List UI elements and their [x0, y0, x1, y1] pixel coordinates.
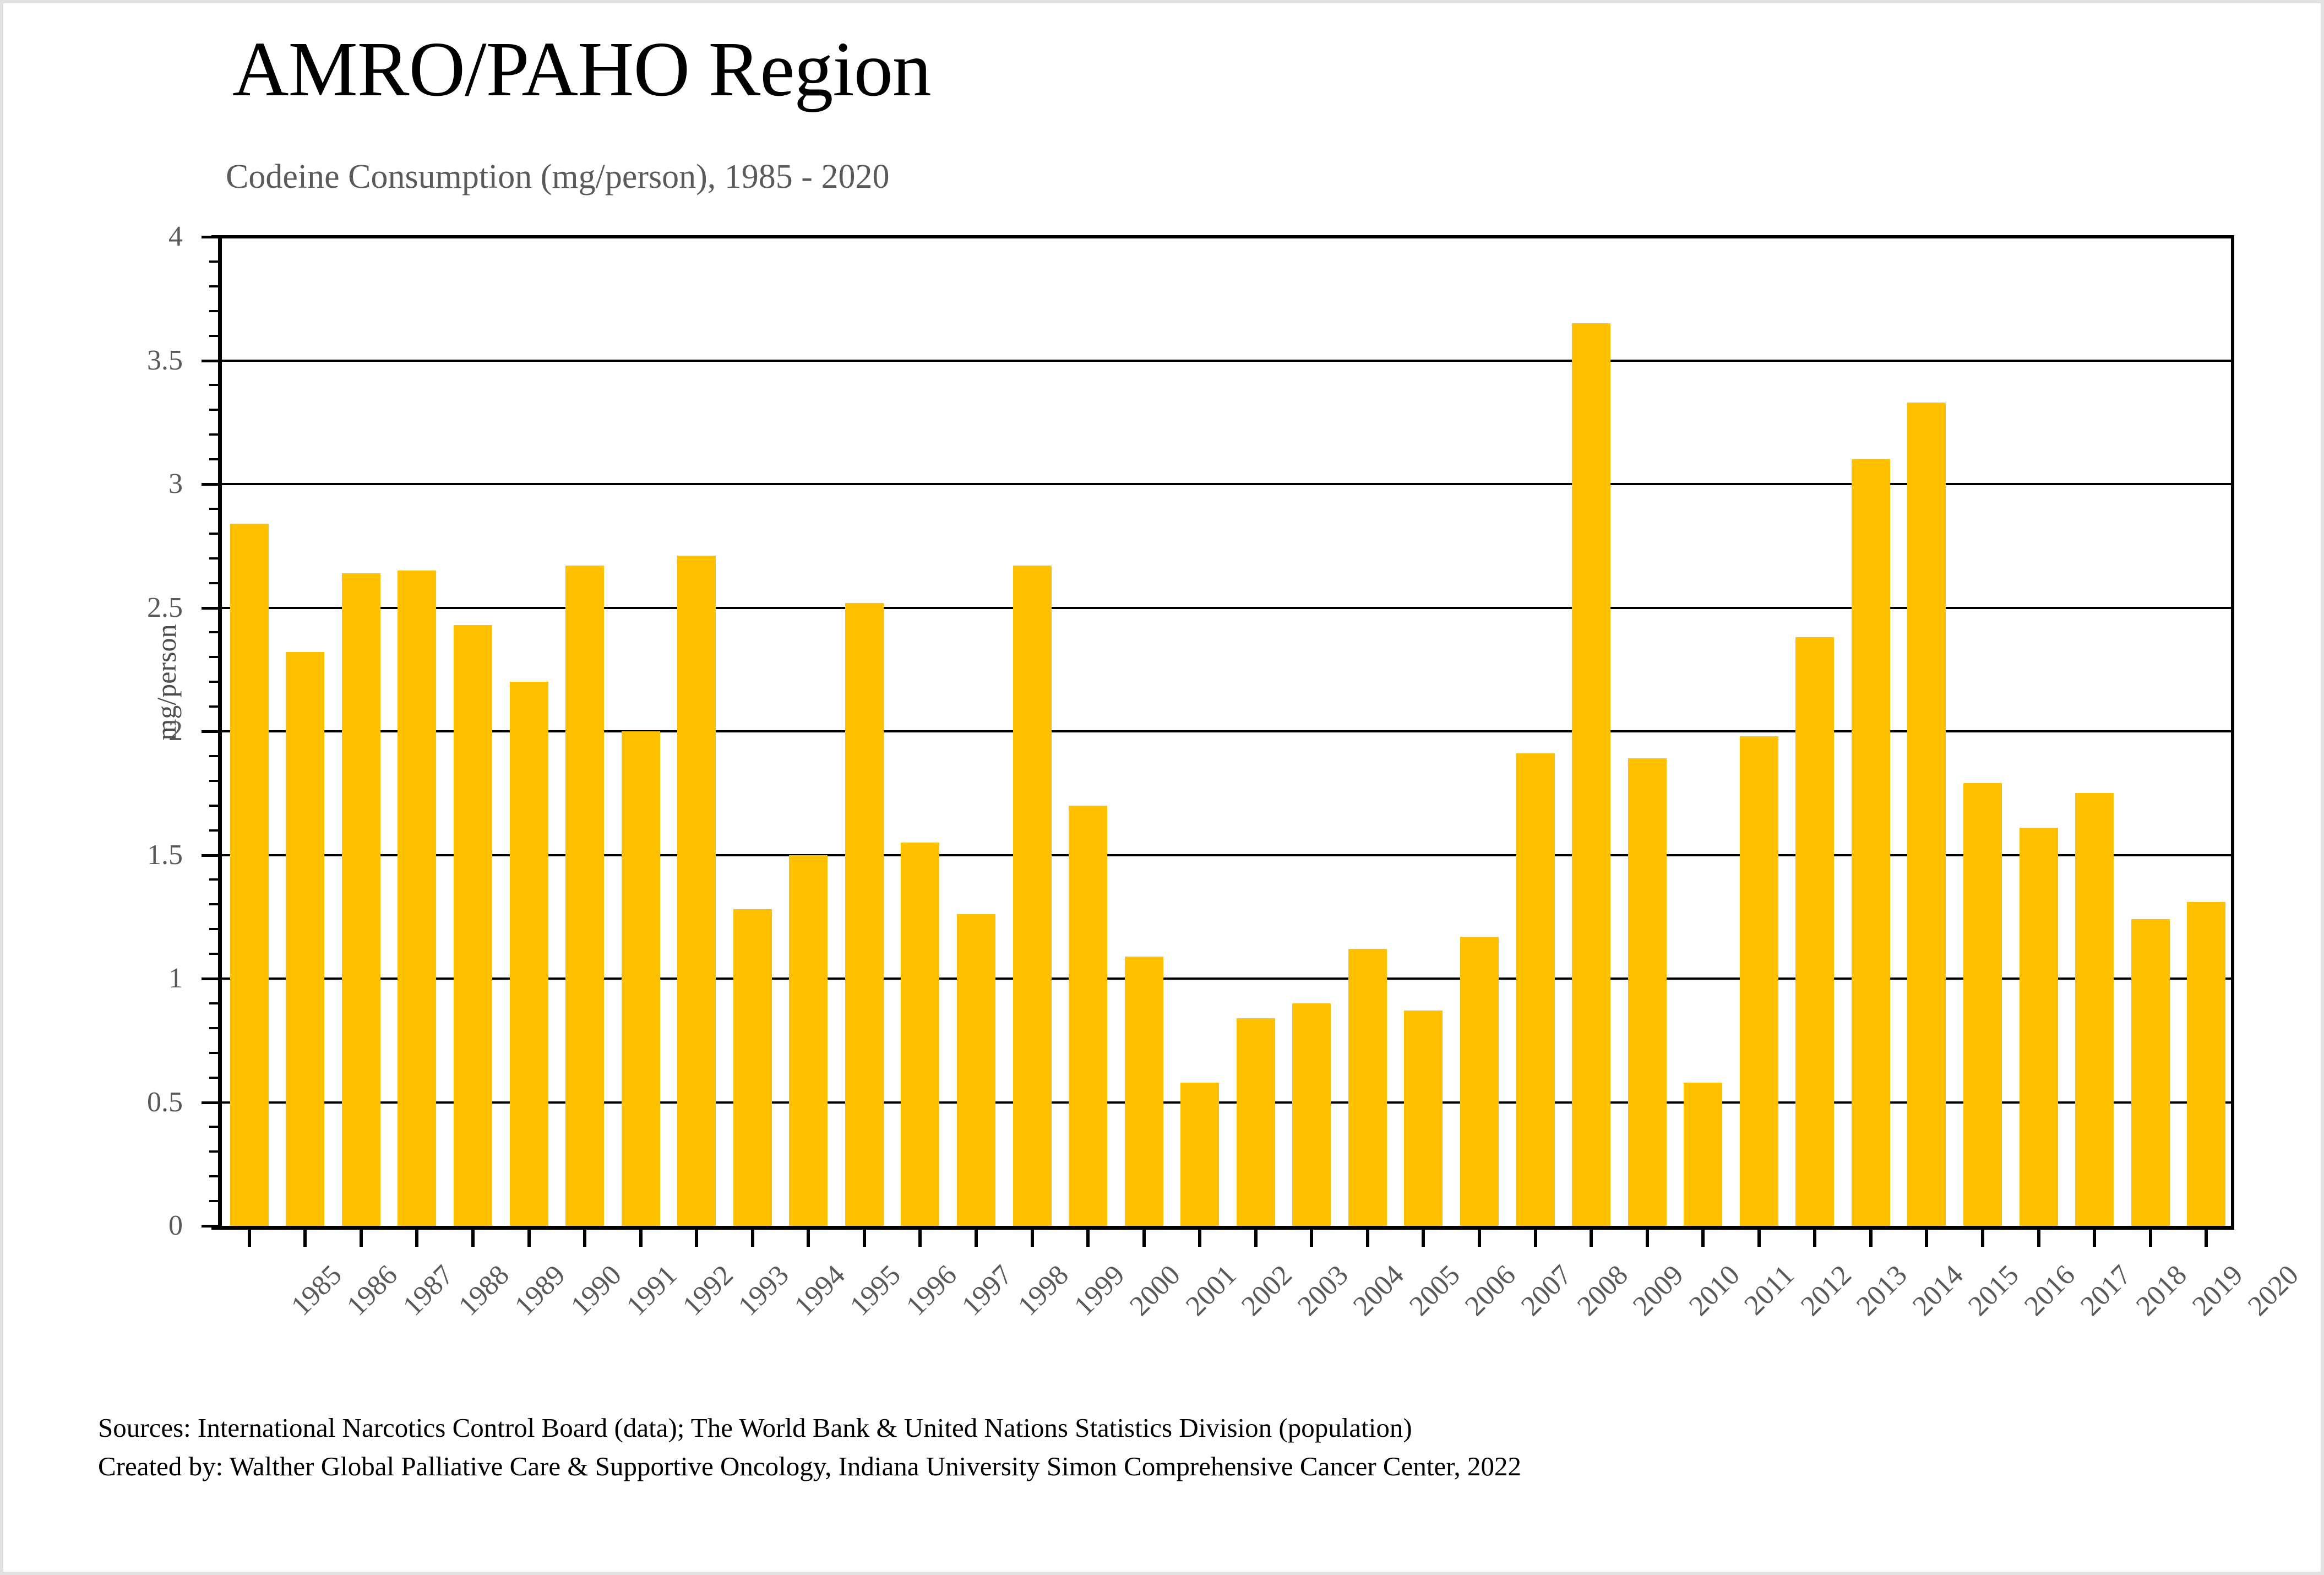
- x-tick-label: 2005: [1404, 1260, 1466, 1322]
- x-tick: [1478, 1226, 1481, 1247]
- x-tick: [1031, 1226, 1034, 1247]
- x-tick: [527, 1226, 531, 1247]
- y-tick-minor: [209, 384, 221, 386]
- bar: [398, 571, 436, 1226]
- x-tick-label: 2018: [2131, 1260, 2193, 1322]
- x-tick: [2037, 1226, 2040, 1247]
- chart-subtitle: Codeine Consumption (mg/person), 1985 - …: [226, 159, 889, 195]
- bar: [789, 855, 828, 1226]
- x-tick: [1646, 1226, 1649, 1247]
- y-tick-major: [202, 730, 221, 733]
- y-tick-major: [202, 236, 221, 238]
- y-tick-minor: [209, 903, 221, 905]
- y-tick-minor: [209, 458, 221, 460]
- x-tick: [1534, 1226, 1537, 1247]
- y-tick-minor: [209, 1077, 221, 1079]
- x-tick: [415, 1226, 418, 1247]
- bar: [230, 524, 269, 1226]
- x-tick-label: 2016: [2019, 1260, 2081, 1322]
- bar: [286, 652, 324, 1226]
- x-tick-label: 1987: [398, 1260, 459, 1322]
- x-tick-label: 2006: [1460, 1260, 1522, 1322]
- bar: [1292, 1003, 1331, 1226]
- y-tick-minor: [209, 508, 221, 510]
- y-tick-minor: [209, 310, 221, 312]
- y-tick-minor: [209, 780, 221, 782]
- x-tick: [2093, 1226, 2096, 1247]
- y-tick-label: 0: [18, 1212, 183, 1240]
- footer-sources: Sources: International Narcotics Control…: [98, 1409, 1521, 1447]
- x-tick: [1142, 1226, 1146, 1247]
- y-tick-minor: [209, 1027, 221, 1029]
- y-tick-minor: [209, 582, 221, 584]
- y-tick-major: [202, 977, 221, 980]
- x-tick-label: 1998: [1013, 1260, 1074, 1322]
- footer-notes: Sources: International Narcotics Control…: [98, 1409, 1521, 1486]
- y-tick-minor: [209, 631, 221, 633]
- y-tick-minor: [209, 409, 221, 411]
- bar: [1852, 459, 1890, 1226]
- page-title: AMRO/PAHO Region: [232, 28, 931, 110]
- bar: [1795, 637, 1834, 1226]
- bar: [510, 682, 548, 1226]
- y-tick-major: [202, 1101, 221, 1104]
- x-tick-label: 1995: [845, 1260, 907, 1322]
- x-tick: [583, 1226, 586, 1247]
- bar: [1907, 403, 1946, 1226]
- y-tick-minor: [209, 1002, 221, 1004]
- bar: [1963, 783, 2002, 1226]
- y-tick-minor: [209, 878, 221, 881]
- y-tick-major: [202, 854, 221, 857]
- x-tick-label: 2001: [1180, 1260, 1242, 1322]
- bar: [565, 566, 604, 1226]
- bar: [1125, 957, 1163, 1226]
- y-tick-minor: [209, 1052, 221, 1054]
- bar: [622, 731, 660, 1226]
- x-tick: [303, 1226, 307, 1247]
- x-tick-label: 2011: [1739, 1260, 1800, 1321]
- y-tick-major: [202, 483, 221, 486]
- y-tick-major: [202, 1225, 221, 1228]
- y-tick-minor: [209, 260, 221, 263]
- y-tick-label: 4: [18, 222, 183, 251]
- x-tick: [1981, 1226, 1984, 1247]
- y-tick-minor: [209, 557, 221, 560]
- chart-page: AMRO/PAHO Region Codeine Consumption (mg…: [0, 0, 2324, 1575]
- y-tick-label: 2.5: [18, 594, 183, 622]
- y-tick-label: 2: [18, 717, 183, 746]
- x-tick: [2205, 1226, 2208, 1247]
- x-tick-label: 2014: [1907, 1260, 1969, 1322]
- y-tick-minor: [209, 705, 221, 708]
- x-tick-label: 1997: [957, 1260, 1019, 1322]
- x-tick-label: 1992: [677, 1260, 739, 1322]
- bar: [957, 914, 995, 1226]
- bar: [1740, 736, 1778, 1226]
- x-tick: [1310, 1226, 1313, 1247]
- y-tick-minor: [209, 1200, 221, 1202]
- x-tick: [2149, 1226, 2152, 1247]
- x-tick-label: 1990: [565, 1260, 627, 1322]
- y-tick-minor: [209, 285, 221, 287]
- x-tick: [1925, 1226, 1928, 1247]
- y-tick-minor: [209, 953, 221, 955]
- x-tick-label: 1986: [342, 1260, 404, 1322]
- bar: [1516, 753, 1555, 1226]
- x-tick: [807, 1226, 810, 1247]
- x-tick: [1590, 1226, 1593, 1247]
- bar: [845, 603, 884, 1226]
- x-tick-label: 1996: [901, 1260, 962, 1322]
- x-tick-label: 2015: [1963, 1260, 2025, 1322]
- x-tick-label: 1988: [454, 1260, 515, 1322]
- bar: [1460, 937, 1499, 1226]
- x-tick: [1422, 1226, 1425, 1247]
- bar: [1572, 323, 1610, 1226]
- bar-series: [221, 237, 2234, 1226]
- y-tick-minor: [209, 433, 221, 436]
- y-tick-minor: [209, 755, 221, 757]
- x-tick-label: 2009: [1628, 1260, 1690, 1322]
- bar: [342, 573, 380, 1226]
- x-tick-label: 1993: [733, 1260, 795, 1322]
- x-tick: [360, 1226, 363, 1247]
- y-tick-minor: [209, 829, 221, 832]
- bar: [1684, 1083, 1722, 1226]
- x-tick: [1813, 1226, 1816, 1247]
- x-tick: [751, 1226, 754, 1247]
- y-tick-label: 1.5: [18, 841, 183, 870]
- y-tick-minor: [209, 681, 221, 683]
- x-tick-label: 2019: [2187, 1260, 2249, 1322]
- x-tick: [1757, 1226, 1761, 1247]
- x-tick: [248, 1226, 251, 1247]
- x-tick: [695, 1226, 698, 1247]
- plot-area: mg/person 00.511.522.533.54 198519861987…: [221, 237, 2234, 1226]
- y-tick-minor: [209, 1150, 221, 1153]
- x-tick-label: 1991: [622, 1260, 683, 1322]
- y-tick-minor: [209, 533, 221, 535]
- x-axis-line: [211, 1226, 2234, 1230]
- x-tick: [639, 1226, 643, 1247]
- x-tick: [1869, 1226, 1873, 1247]
- x-tick-label: 2004: [1348, 1260, 1410, 1322]
- x-tick: [863, 1226, 866, 1247]
- bar: [1237, 1018, 1275, 1226]
- y-tick-minor: [209, 928, 221, 930]
- x-tick: [918, 1226, 922, 1247]
- x-tick-label: 2002: [1237, 1260, 1298, 1322]
- bar: [1348, 949, 1387, 1226]
- bar: [1404, 1011, 1443, 1226]
- x-tick-label: 2012: [1795, 1260, 1857, 1322]
- bar: [2020, 828, 2058, 1226]
- x-tick-label: 2007: [1516, 1260, 1577, 1322]
- x-tick-label: 1994: [789, 1260, 851, 1322]
- x-tick: [471, 1226, 475, 1247]
- x-tick-label: 2003: [1292, 1260, 1354, 1322]
- footer-created-by: Created by: Walther Global Palliative Ca…: [98, 1447, 1521, 1486]
- y-tick-minor: [209, 656, 221, 658]
- x-tick: [1366, 1226, 1369, 1247]
- y-tick-label: 3.5: [18, 346, 183, 375]
- x-tick-label: 1989: [509, 1260, 571, 1322]
- x-tick: [1198, 1226, 1201, 1247]
- x-tick-label: 2013: [1852, 1260, 1913, 1322]
- y-tick-minor: [209, 805, 221, 807]
- x-tick-label: 2008: [1572, 1260, 1634, 1322]
- y-tick-major: [202, 607, 221, 610]
- x-tick-label: 2020: [2243, 1260, 2305, 1322]
- bar: [1180, 1083, 1219, 1226]
- x-tick: [975, 1226, 978, 1247]
- x-tick: [1254, 1226, 1258, 1247]
- x-tick-label: 2000: [1125, 1260, 1187, 1322]
- y-tick-minor: [209, 1175, 221, 1177]
- bar: [1628, 758, 1667, 1226]
- bar: [2187, 902, 2225, 1226]
- x-tick: [1086, 1226, 1090, 1247]
- bar: [1013, 566, 1052, 1226]
- bar: [901, 843, 939, 1226]
- x-tick-label: 1999: [1069, 1260, 1130, 1322]
- x-tick-label: 1985: [286, 1260, 347, 1322]
- bar: [677, 556, 716, 1226]
- x-tick-label: 2017: [2075, 1260, 2137, 1322]
- y-tick-label: 1: [18, 964, 183, 993]
- bar: [454, 625, 492, 1226]
- y-tick-major: [202, 360, 221, 362]
- bar: [733, 909, 772, 1226]
- y-tick-label: 3: [18, 470, 183, 498]
- bar: [2131, 919, 2170, 1226]
- y-tick-minor: [209, 1126, 221, 1128]
- x-tick-label: 2010: [1684, 1260, 1745, 1322]
- x-tick: [1701, 1226, 1705, 1247]
- y-tick-label: 0.5: [18, 1088, 183, 1117]
- y-tick-minor: [209, 335, 221, 337]
- bar: [2075, 793, 2114, 1226]
- bar: [1069, 806, 1107, 1226]
